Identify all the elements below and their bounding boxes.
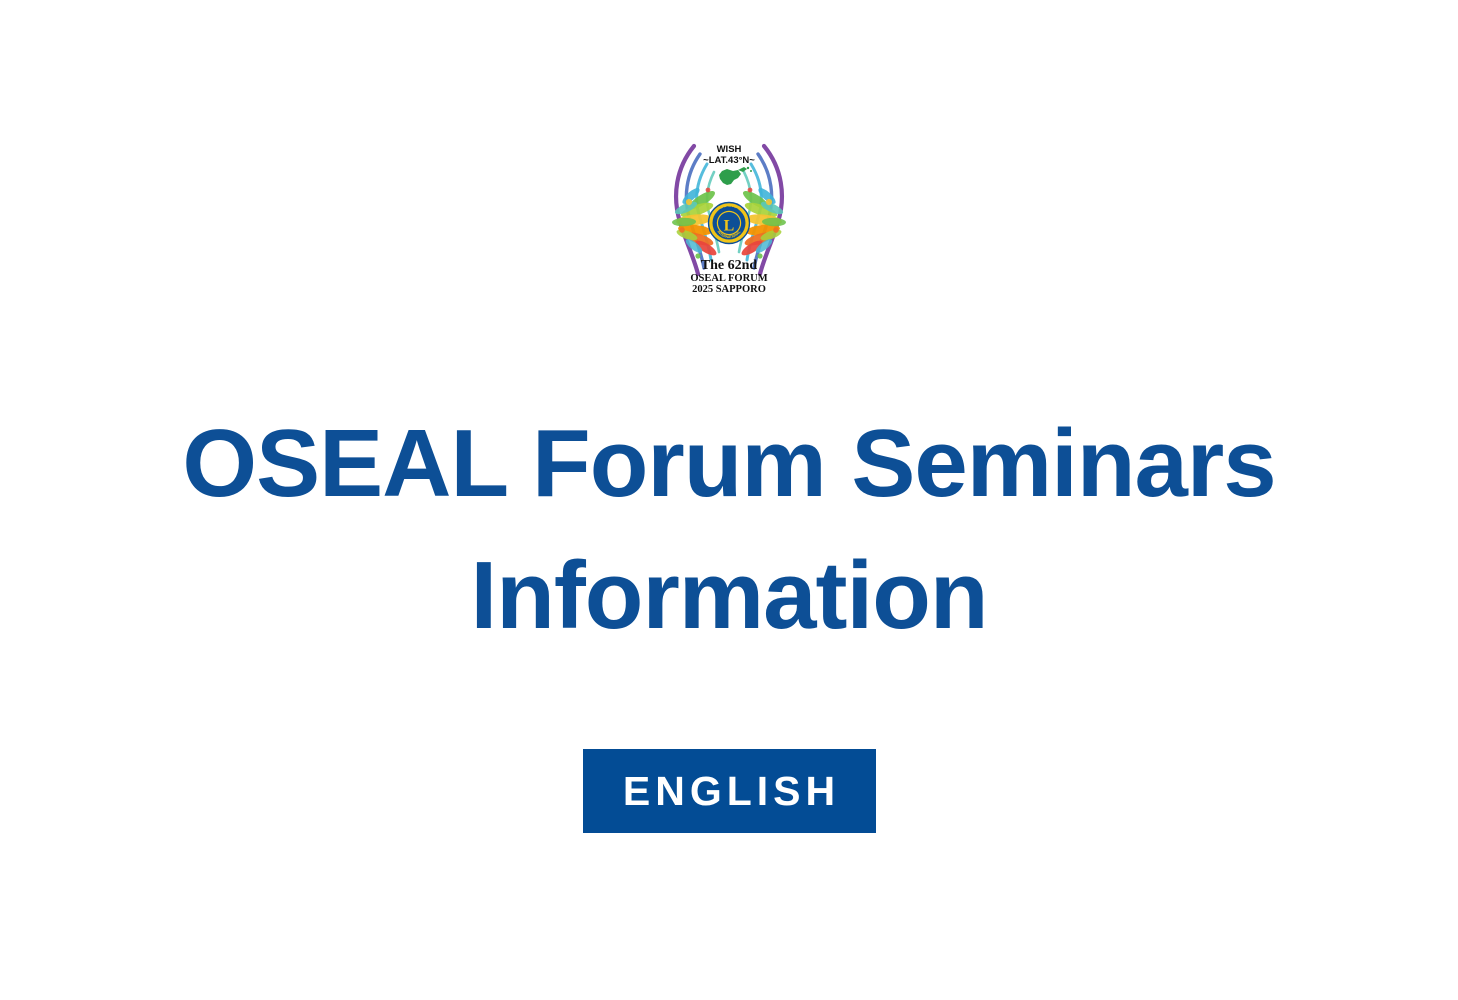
lions-international-emblem: L LIONS INTERNATIONAL — [709, 203, 750, 244]
logo-year-city-text: 2025 SAPPORO — [692, 284, 766, 294]
svg-text:L: L — [724, 218, 735, 235]
language-button-row: ENGLISH — [0, 749, 1458, 833]
page-title: OSEAL Forum Seminars Information — [0, 398, 1458, 662]
oseal-forum-logo-graphic: WISH ~LAT.43°N~ L LIONS INTERNATIONAL — [664, 138, 794, 294]
english-language-button[interactable]: ENGLISH — [583, 749, 876, 833]
page-title-line-1: OSEAL Forum Seminars — [0, 398, 1458, 530]
page-root: WISH ~LAT.43°N~ L LIONS INTERNATIONAL — [0, 0, 1458, 1000]
logo-latitude-text: ~LAT.43°N~ — [703, 155, 755, 166]
logo-wish-text: WISH — [717, 144, 742, 155]
page-title-line-2: Information — [0, 530, 1458, 662]
logo-edition-text: The 62nd — [701, 258, 758, 273]
logo-forum-name-text: OSEAL FORUM — [690, 273, 767, 284]
oseal-forum-logo: WISH ~LAT.43°N~ L LIONS INTERNATIONAL — [664, 138, 794, 294]
